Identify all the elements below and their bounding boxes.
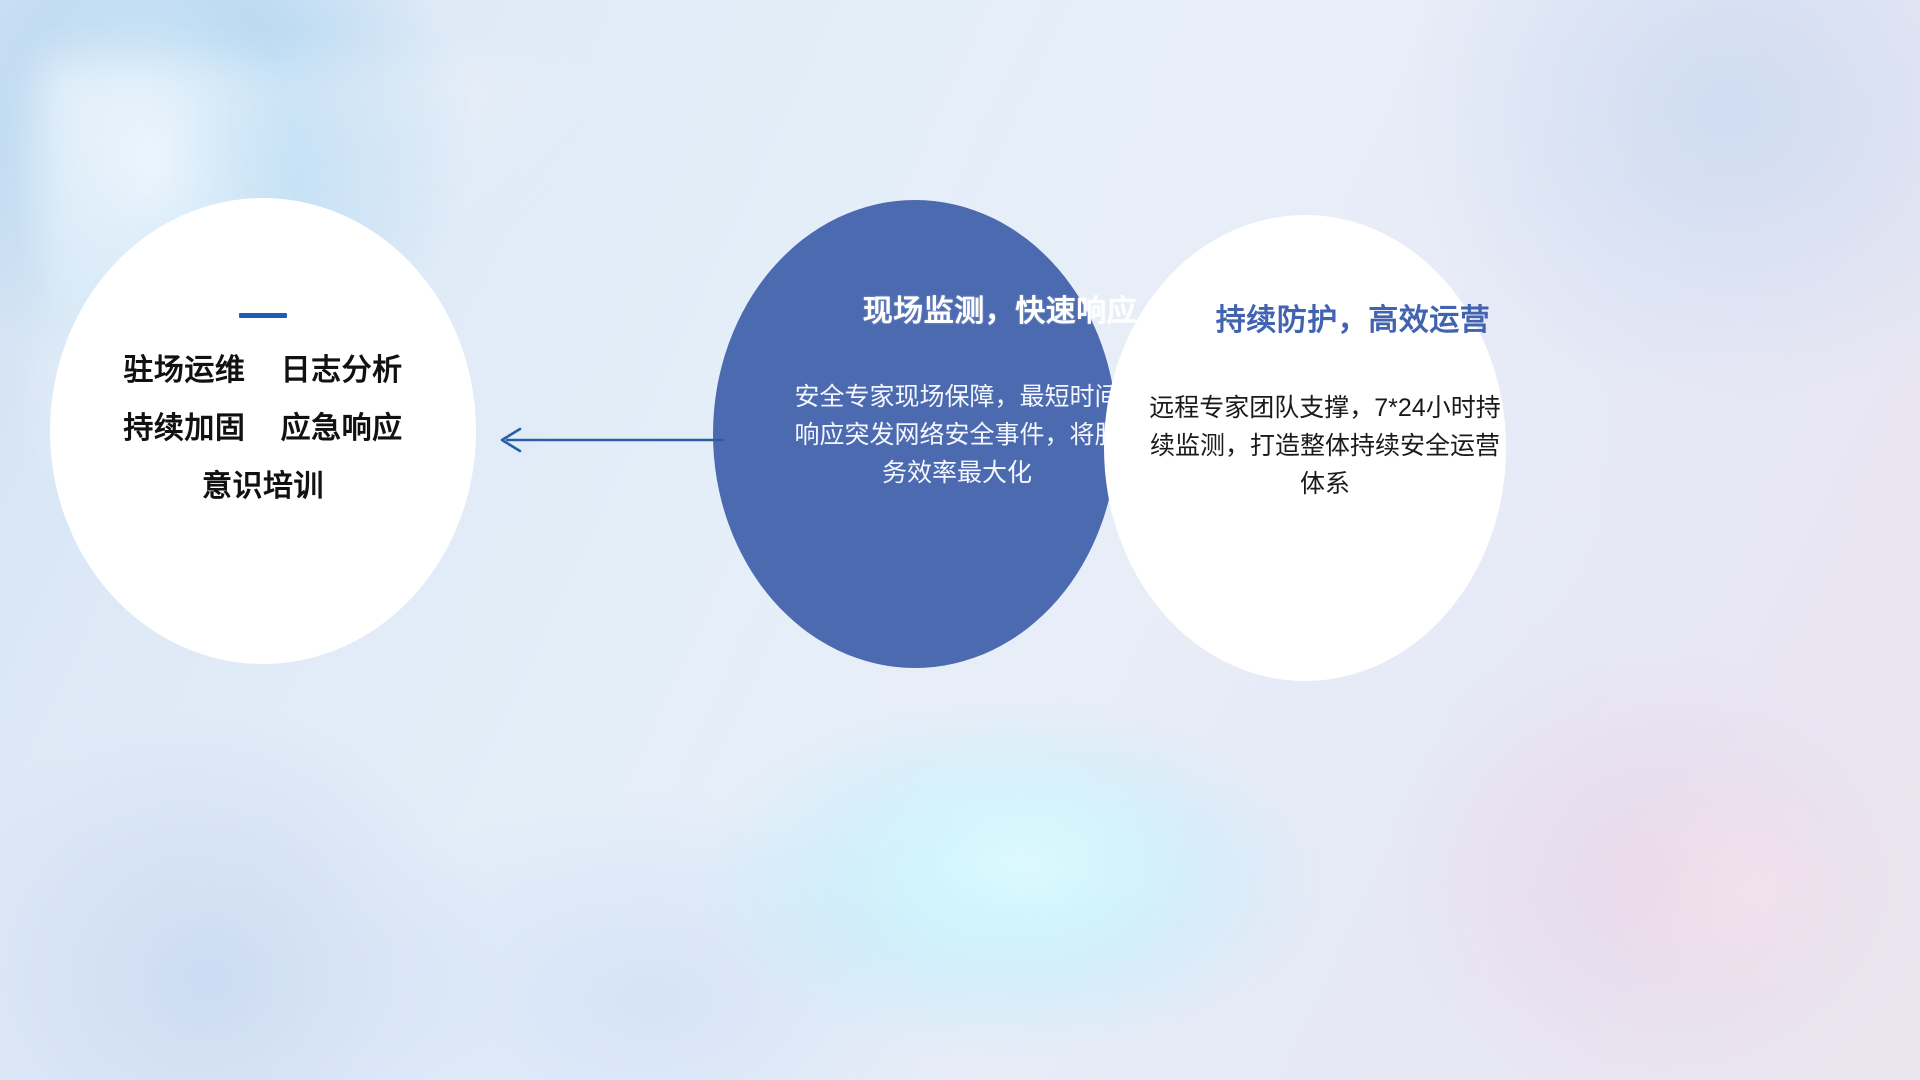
right-circle-title: 持续防护，高效运营	[1216, 295, 1491, 339]
right-circle-card[interactable]: 持续防护，高效运营 远程专家团队支撑，7*24小时持续监测，打造整体持续安全运营…	[1104, 215, 1506, 681]
list-item: 意识培训	[50, 472, 476, 502]
left-circle-keyword-list: 驻场运维 日志分析 持续加固 应急响应 意识培训	[50, 356, 476, 502]
blue-circle-card[interactable]: 现场监测，快速响应 安全专家现场保障，最短时间响应突发网络安全事件，将服务效率最…	[713, 200, 1117, 668]
slide-canvas: 现场监测，快速响应 安全专家现场保障，最短时间响应突发网络安全事件，将服务效率最…	[0, 0, 1920, 1080]
left-circle-card[interactable]: 驻场运维 日志分析 持续加固 应急响应 意识培训	[50, 198, 476, 664]
blue-circle-title: 现场监测，快速响应	[863, 286, 1138, 330]
connector-arrow	[492, 418, 724, 462]
list-item: 持续加固 应急响应	[50, 414, 476, 444]
right-circle-body: 远程专家团队支撑，7*24小时持续监测，打造整体持续安全运营体系	[1149, 389, 1501, 503]
divider-dash-icon	[239, 313, 287, 318]
list-item: 驻场运维 日志分析	[50, 356, 476, 386]
blue-circle-body: 安全专家现场保障，最短时间响应突发网络安全事件，将服务效率最大化	[792, 378, 1122, 492]
arrow-left-icon	[492, 418, 724, 462]
